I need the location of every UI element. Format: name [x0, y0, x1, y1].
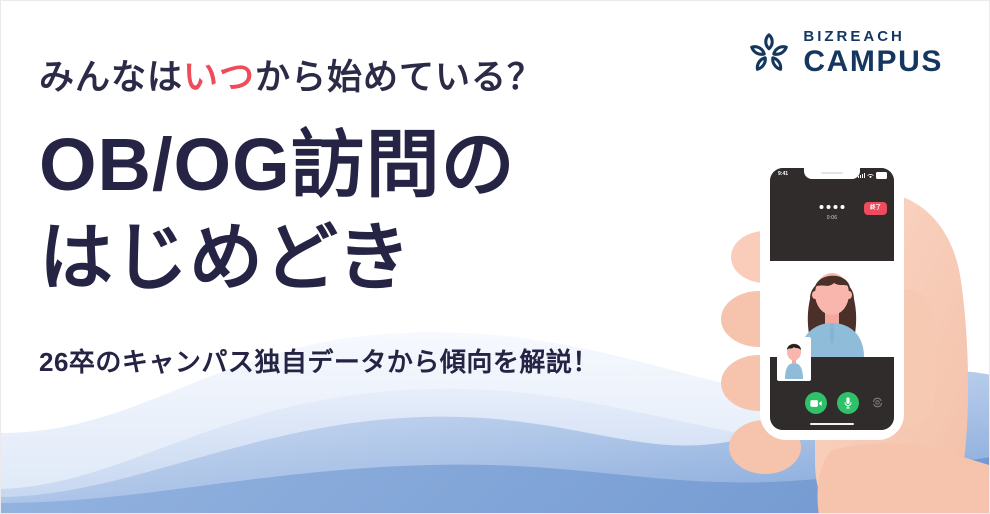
- call-controls-area: [770, 357, 894, 430]
- call-timer: 0:06: [827, 215, 838, 221]
- status-time: 9:41: [778, 171, 788, 177]
- brand-logo[interactable]: BIZREACH CAMPUS: [746, 29, 943, 77]
- wifi-icon: [867, 173, 874, 179]
- kicker-text-after: から始めている？: [255, 58, 543, 97]
- hand-holding-phone-illustration: 9:41 0:06 終了: [619, 121, 989, 514]
- microphone-icon: [844, 397, 852, 409]
- camera-flip-button[interactable]: [872, 397, 883, 408]
- camera-toggle-button[interactable]: [805, 392, 827, 414]
- phone-status-bar: 9:41: [770, 168, 894, 183]
- logo-text-campus: CAMPUS: [803, 47, 943, 77]
- logo-text-bizreach: BIZREACH: [803, 29, 943, 44]
- copy-block: みんなはいつから始めている？ OB/OG訪問の はじめどき 26卒のキャンパス独…: [39, 57, 659, 379]
- self-view-thumbnail[interactable]: [777, 337, 811, 381]
- home-indicator: [810, 423, 854, 426]
- phone-screen: 9:41 0:06 終了: [770, 168, 894, 430]
- headline-line-1: OB/OG訪問の: [39, 121, 659, 208]
- kicker-highlight: いつ: [183, 58, 255, 97]
- status-indicators: [858, 172, 887, 179]
- notch-speaker: [821, 172, 843, 174]
- battery-icon: [876, 172, 887, 179]
- tagline: 26卒のキャンパス独自データから傾向を解説！: [39, 342, 659, 379]
- headline-line-2-wrap: はじめどき: [39, 214, 412, 301]
- headline-line-2: はじめどき: [39, 216, 412, 299]
- kicker-text-before: みんなは: [39, 58, 183, 97]
- mic-toggle-button[interactable]: [837, 392, 859, 414]
- flower-petal-icon: [746, 30, 792, 76]
- connecting-dots-icon: [820, 205, 845, 209]
- phone-notch: [804, 168, 860, 179]
- man-avatar: [779, 339, 809, 379]
- poster-canvas: BIZREACH CAMPUS みんなはいつから始めている？ OB/OG訪問の …: [0, 0, 990, 514]
- end-call-button[interactable]: 終了: [864, 202, 887, 215]
- call-header: 0:06 終了: [770, 183, 894, 261]
- video-camera-icon: [810, 399, 822, 408]
- kicker-line: みんなはいつから始めている？: [39, 57, 659, 99]
